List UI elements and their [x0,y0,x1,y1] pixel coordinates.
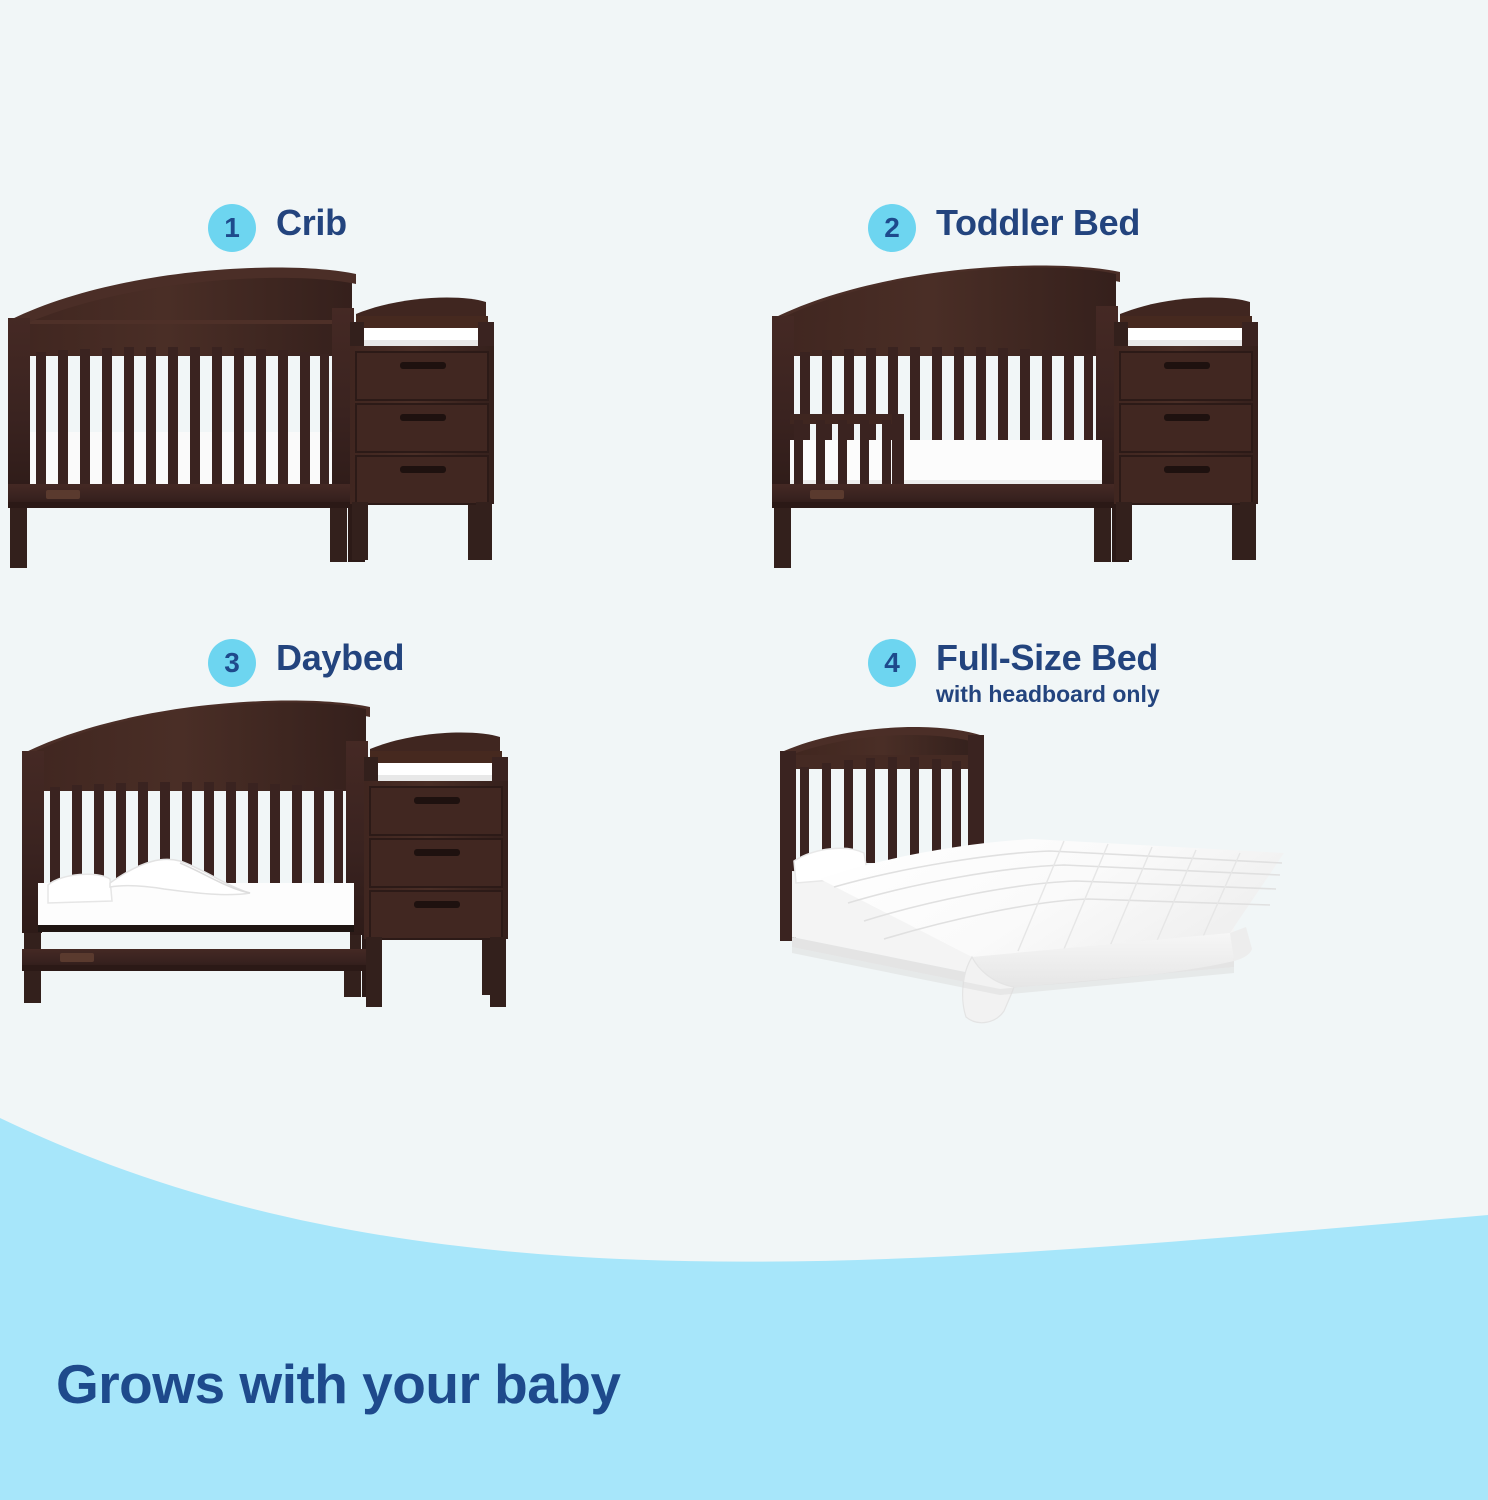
stage-header: 3 Daybed [0,635,744,687]
stage-toddler-bed: 2 Toddler Bed [744,200,1488,635]
stage-grid: 1 Crib [0,0,1488,1090]
stage-title: Daybed [276,637,404,679]
daybed-illustration [0,697,744,1057]
stage-title: Toddler Bed [936,202,1140,244]
infographic-page: Grows with your baby 1 Crib [0,0,1488,1500]
stage-number-badge: 1 [208,204,256,252]
toddler-bed-illustration [744,262,1488,622]
banner-headline: Grows with your baby [56,1352,621,1416]
bottom-banner-wave [0,1090,1488,1500]
stage-daybed: 3 Daybed [0,635,744,1070]
stage-crib: 1 Crib [0,200,744,635]
stage-number-badge: 3 [208,639,256,687]
crib-illustration [0,262,744,622]
full-size-bed-illustration [744,697,1488,1057]
stage-header: 1 Crib [0,200,744,252]
stage-number-badge: 2 [868,204,916,252]
stage-header: 2 Toddler Bed [744,200,1488,252]
stage-title: Full-Size Bed [936,637,1160,679]
stage-full-size-bed: 4 Full-Size Bed with headboard only [744,635,1488,1070]
stage-title: Crib [276,202,347,244]
stage-number-badge: 4 [868,639,916,687]
